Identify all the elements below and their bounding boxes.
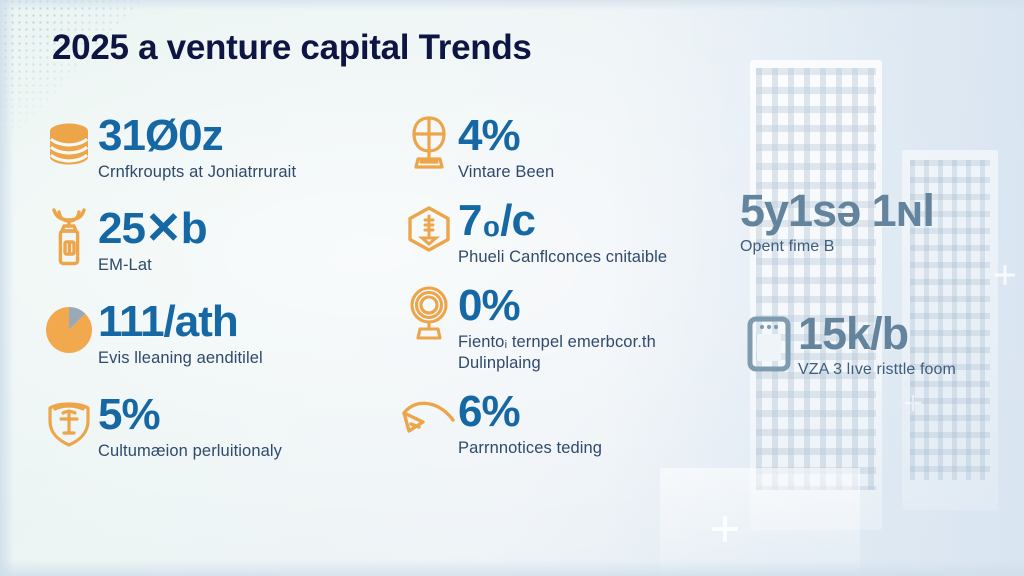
stat-item: 4% Vintare Been <box>400 112 730 183</box>
stat-text: 6% Parrnnotices teding <box>458 388 602 459</box>
stat-text: 0% Fientoᵢ ternpel emerbcor.th Dulinplai… <box>458 282 656 374</box>
stat-caption: VZA 3 lıve risttle foom <box>798 360 956 380</box>
stat-value: 5y1sə 1ɴl <box>740 188 934 234</box>
stat-text: 5% Cultumæion perluitionaly <box>98 391 282 462</box>
stat-text: 111/ath Evis Ɩleaning aenditilel <box>98 298 263 369</box>
stats-column-left: 31Ø0z Crnfkroupts at Joniatrrurait <box>40 112 390 462</box>
server-device-icon <box>740 311 798 377</box>
spiral-swirl-trophy-icon <box>400 284 458 344</box>
stats-column-right: 5y1sə 1ɴl Opent fime B 15k/b VZA 3 l <box>740 186 1020 381</box>
stat-text: 5y1sə 1ɴl Opent fime B <box>740 186 934 257</box>
pie-chart-icon <box>40 300 98 360</box>
stat-text: 7₀/c Phueli Canflconces cnitaible <box>458 197 667 268</box>
stat-item: 111/ath Evis Ɩleaning aenditilel <box>40 298 390 369</box>
stat-item: 15k/b VZA 3 lıve risttle foom <box>740 309 1020 380</box>
stat-text: 4% Vintare Been <box>458 112 554 183</box>
stat-item: 5% Cultumæion perluitionaly <box>40 391 390 462</box>
stat-item: 7₀/c Phueli Canflconces cnitaible <box>400 197 730 268</box>
stat-caption: EM-Lat <box>98 255 207 276</box>
stat-value: 5% <box>98 393 282 438</box>
stat-value: 6% <box>458 390 602 435</box>
arc-fan-icon <box>400 390 458 450</box>
stat-item: 31Ø0z Crnfkroupts at Joniatrrurait <box>40 112 390 183</box>
stat-item: 5y1sə 1ɴl Opent fime B <box>740 186 1020 257</box>
stat-value: 25✕b <box>98 207 207 252</box>
stat-value: 15k/b <box>798 311 956 357</box>
stat-caption: Evis Ɩleaning aenditilel <box>98 348 263 369</box>
stat-value: 4% <box>458 114 554 159</box>
database-stack-icon <box>40 114 98 174</box>
hexagon-thermometer-icon <box>400 199 458 259</box>
stat-text: 15k/b VZA 3 lıve risttle foom <box>798 309 956 380</box>
stat-caption: Crnfkroupts at Joniatrrurait <box>98 162 296 183</box>
stats-column-middle: 4% Vintare Been 7₀/c Phueli Canflconces … <box>400 112 730 459</box>
stat-text: 31Ø0z Crnfkroupts at Joniatrrurait <box>98 112 296 183</box>
stat-caption: Vintare Been <box>458 162 554 183</box>
infographic-content: 2025 a venture capital Trends 3 <box>0 0 1024 576</box>
trophy-bottle-icon <box>40 207 98 267</box>
stat-value: 111/ath <box>98 300 263 345</box>
stat-value: 0% <box>458 284 656 329</box>
stat-item: 0% Fientoᵢ ternpel emerbcor.th Dulinplai… <box>400 282 730 374</box>
stat-caption: Parrnnotices teding <box>458 438 602 459</box>
stat-caption: Fientoᵢ ternpel emerbcor.th Dulinplaing <box>458 332 656 374</box>
stat-text: 25✕b EM-Lat <box>98 205 207 276</box>
stat-value: 7₀/c <box>458 199 667 244</box>
stat-caption: Cultumæion perluitionaly <box>98 441 282 462</box>
stat-caption: Phueli Canflconces cnitaible <box>458 247 667 268</box>
page-title: 2025 a venture capital Trends <box>52 28 532 68</box>
stat-item: 6% Parrnnotices teding <box>400 388 730 459</box>
window-grid-trophy-icon <box>400 114 458 174</box>
shield-badge-icon <box>40 393 98 453</box>
stat-item: 25✕b EM-Lat <box>40 205 390 276</box>
stat-caption: Opent fime B <box>740 237 934 257</box>
stat-value: 31Ø0z <box>98 114 296 159</box>
